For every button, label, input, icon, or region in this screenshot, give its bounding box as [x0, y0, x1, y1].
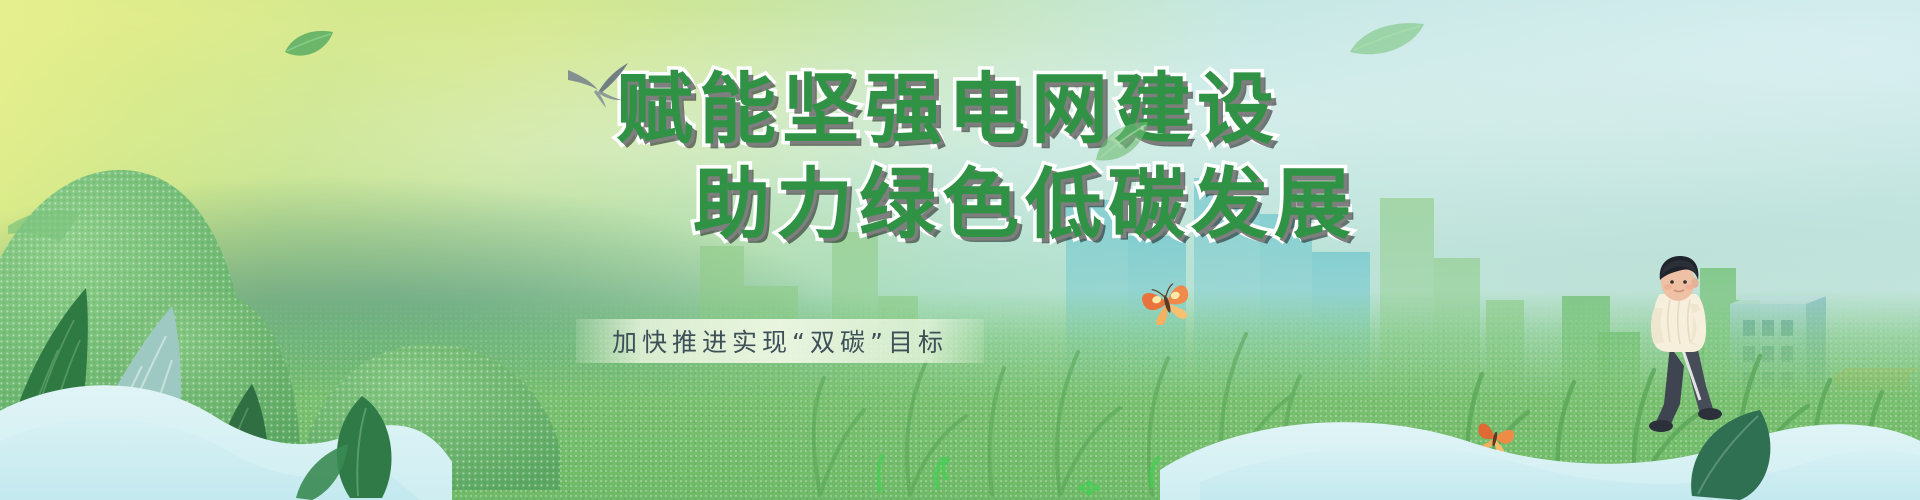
- banner-root: 赋能坚强电网建设 助力绿色低碳发展 加快推进实现“双碳”目标: [0, 0, 1920, 500]
- butterfly-icon: [1140, 281, 1194, 325]
- leaf-icon: [1682, 404, 1802, 500]
- foreground-mounds: [0, 330, 1920, 500]
- leaf-icon: [1092, 120, 1152, 164]
- swallow-icon: [566, 62, 632, 110]
- leaf-icon: [283, 28, 335, 62]
- leaf-cluster-icon: [296, 390, 446, 500]
- leaf-icon: [1348, 20, 1426, 60]
